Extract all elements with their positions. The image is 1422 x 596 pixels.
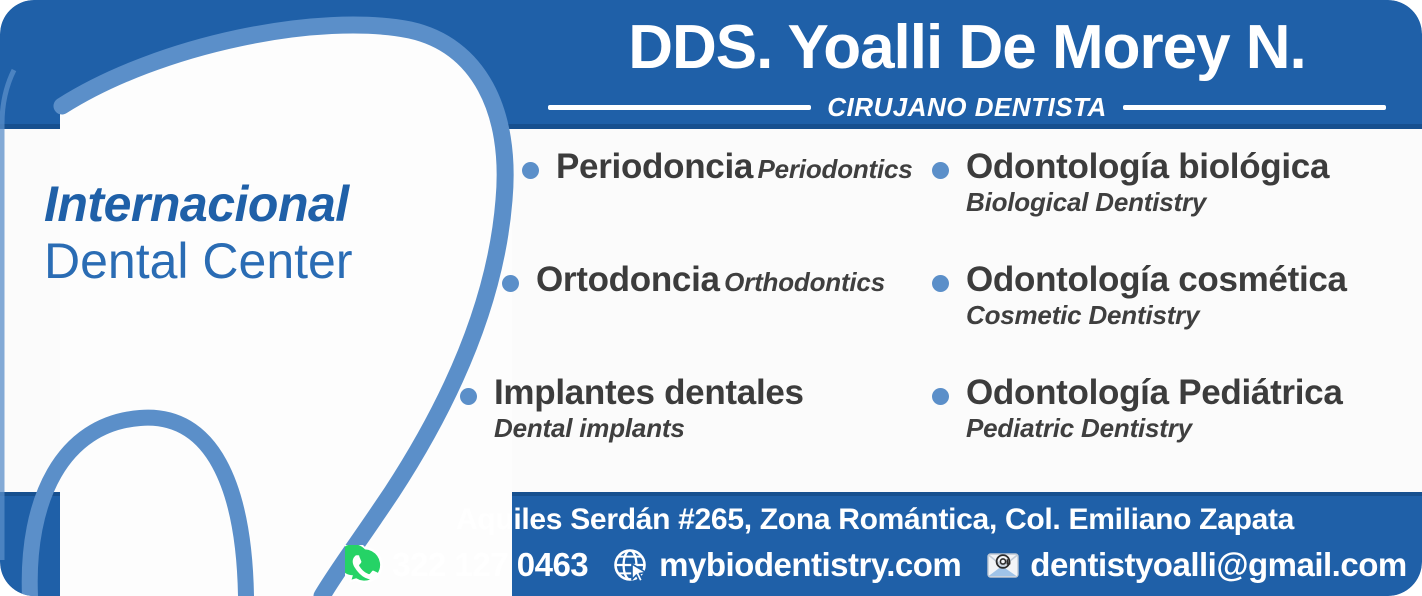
- website-contact[interactable]: mybiodentistry.com: [610, 544, 961, 586]
- specialty-row: CIRUJANO DENTISTA: [548, 90, 1386, 124]
- service-item: Odontología biológica Biological Dentist…: [932, 146, 1404, 259]
- phone-contact[interactable]: 322 127 0463: [345, 545, 588, 585]
- service-name-en: Pediatric Dentistry: [966, 413, 1192, 443]
- service-item: Odontología Pediátrica Pediatric Dentist…: [932, 372, 1404, 485]
- whatsapp-icon: [345, 545, 385, 585]
- bullet-icon: [932, 388, 949, 405]
- service-item: Ortodoncia Orthodontics: [502, 259, 932, 372]
- service-name-en: Orthodontics: [724, 267, 885, 297]
- footer-topline: [0, 492, 1422, 496]
- service-name-es: Odontología Pediátrica: [966, 373, 1343, 412]
- business-card: Internacional Dental Center DDS. Yoalli …: [0, 0, 1422, 596]
- service-item: Odontología cosmética Cosmetic Dentistry: [932, 259, 1404, 372]
- service-name-es: Periodoncia: [556, 147, 753, 186]
- rule-left: [548, 105, 811, 110]
- bullet-icon: [932, 162, 949, 179]
- rule-right: [1123, 105, 1386, 110]
- services-list: Periodoncia Periodontics Ortodoncia Orth…: [460, 146, 1404, 486]
- email-envelope-icon: [983, 545, 1023, 585]
- bullet-icon: [522, 162, 539, 179]
- phone-number: 322 127 0463: [392, 545, 588, 585]
- globe-cursor-icon: [610, 544, 652, 586]
- address-text: Aquiles Serdán #265, Zona Romántica, Col…: [360, 500, 1390, 540]
- contact-row: 322 127 0463 mybiodentistry.com: [352, 540, 1400, 590]
- logo-dental-center: Dental Center: [44, 234, 444, 289]
- services-column-left: Periodoncia Periodontics Ortodoncia Orth…: [460, 146, 932, 486]
- service-item: Implantes dentales Dental implants: [460, 372, 932, 485]
- email-address: dentistyoalli@gmail.com: [1030, 545, 1406, 585]
- service-name-en: Periodontics: [757, 154, 912, 184]
- website-url: mybiodentistry.com: [659, 545, 961, 585]
- services-column-right: Odontología biológica Biological Dentist…: [932, 146, 1404, 486]
- service-name-en: Cosmetic Dentistry: [966, 300, 1199, 330]
- service-name-es: Odontología biológica: [966, 147, 1329, 186]
- service-name-en: Dental implants: [494, 413, 685, 443]
- logo-block: Internacional Dental Center: [44, 178, 444, 289]
- service-item: Periodoncia Periodontics: [522, 146, 932, 259]
- service-name-es: Odontología cosmética: [966, 260, 1347, 299]
- bullet-icon: [932, 275, 949, 292]
- logo-internacional: Internacional: [44, 178, 444, 230]
- doctor-name: DDS. Yoalli De Morey N.: [548, 12, 1386, 84]
- header-underline: [0, 124, 1422, 129]
- bullet-icon: [502, 275, 519, 292]
- service-name-en: Biological Dentistry: [966, 187, 1206, 217]
- service-name-es: Ortodoncia: [536, 260, 720, 299]
- specialty-label: CIRUJANO DENTISTA: [827, 92, 1107, 123]
- bullet-icon: [460, 388, 477, 405]
- email-contact[interactable]: dentistyoalli@gmail.com: [983, 545, 1406, 585]
- service-name-es: Implantes dentales: [494, 373, 804, 412]
